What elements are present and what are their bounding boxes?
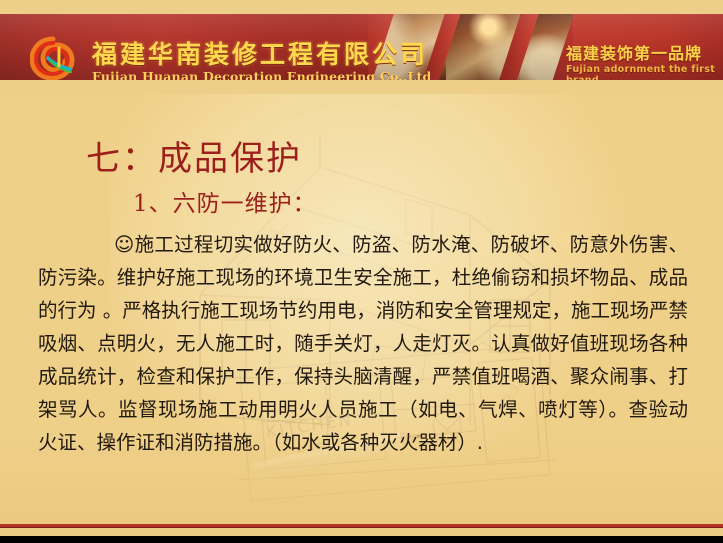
bottom-gold-band	[0, 80, 723, 94]
top-gold-band	[0, 0, 723, 14]
footer-black-strip	[0, 536, 723, 543]
slide-title: 七：成品保护	[86, 131, 302, 180]
swirl-logo-icon	[30, 36, 76, 80]
tagline-en: Fujian adornment the first brand	[566, 64, 723, 80]
footer-gold-strip	[0, 528, 723, 536]
company-name-en: Fujian Huanan Decoration Engineering Co.…	[92, 69, 431, 80]
slide-body-text: ☺施工过程切实做好防火、防盗、防水淹、防破坏、防意外伤害、防污染。维护好施工现场…	[38, 228, 688, 459]
slide-canvas: KITCHEN 8.18 2.32	[0, 0, 723, 543]
company-name-cn: 福建华南装修工程有限公司	[92, 35, 428, 71]
header-banner: 福建华南装修工程有限公司 Fujian Huanan Decoration En…	[0, 14, 723, 80]
tagline-cn: 福建装饰第一品牌	[566, 40, 702, 64]
slide-subtitle: 1、六防一维护：	[133, 184, 317, 218]
